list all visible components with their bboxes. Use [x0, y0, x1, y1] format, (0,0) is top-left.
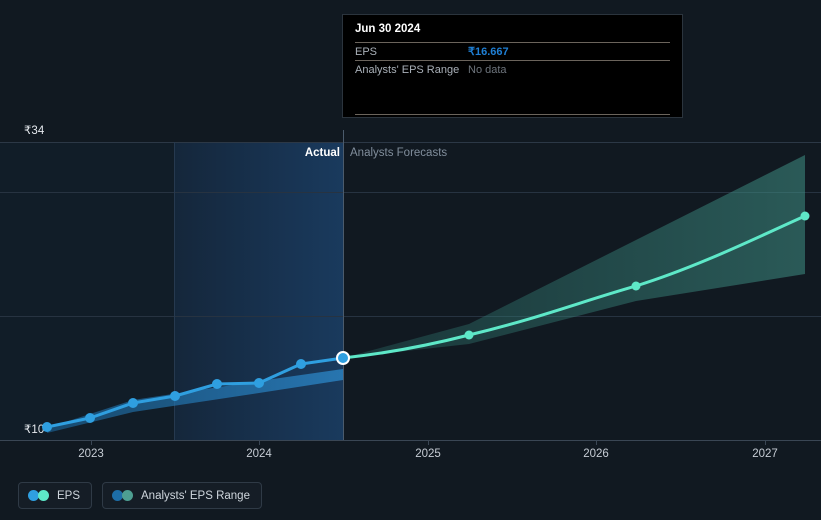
tooltip-value-eps: ₹16.667	[468, 45, 509, 58]
data-point-actual[interactable]	[170, 391, 180, 401]
x-axis-tick	[428, 440, 429, 445]
tooltip-key-eps: EPS	[355, 46, 468, 58]
y-axis-label-bottom: ₹10	[24, 422, 44, 436]
x-axis-label-2025: 2025	[415, 448, 441, 460]
eps-actual-line	[47, 358, 343, 427]
actual-range-band	[47, 369, 343, 433]
y-axis-label-top: ₹34	[24, 123, 44, 137]
x-axis-label-2026: 2026	[583, 448, 609, 460]
x-axis-label-2027: 2027	[752, 448, 778, 460]
data-point-forecast[interactable]	[801, 212, 810, 221]
x-axis-tick	[596, 440, 597, 445]
x-axis-tick	[765, 440, 766, 445]
gridline-top	[0, 142, 821, 143]
chart-tooltip: Jun 30 2024 EPS ₹16.667 Analysts' EPS Ra…	[342, 14, 683, 118]
tooltip-key-range: Analysts' EPS Range	[355, 64, 468, 76]
actual-forecast-divider	[343, 130, 344, 440]
gridline-baseline	[0, 440, 821, 441]
section-label-actual: Actual	[305, 147, 340, 159]
eps-forecast-line	[343, 216, 805, 358]
eps-forecast-chart: ₹34 ₹10 Actual Analysts Forecasts	[0, 0, 821, 520]
actual-period-highlight-band	[174, 142, 343, 440]
x-axis-tick	[259, 440, 260, 445]
x-axis-label-2024: 2024	[246, 448, 272, 460]
gridline-mid	[0, 316, 821, 317]
x-axis-label-2023: 2023	[78, 448, 104, 460]
selected-data-point[interactable]	[337, 352, 349, 364]
data-point-actual[interactable]	[128, 398, 138, 408]
chart-legend: EPS Analysts' EPS Range	[18, 482, 262, 509]
tooltip-bottom-rule	[355, 114, 670, 115]
tooltip-row-eps: EPS ₹16.667	[355, 42, 670, 60]
vertical-gridline-1	[174, 142, 175, 440]
tooltip-spacer	[355, 78, 670, 114]
tooltip-row-range: Analysts' EPS Range No data	[355, 60, 670, 78]
section-label-forecast: Analysts Forecasts	[350, 147, 447, 159]
data-point-actual[interactable]	[85, 413, 95, 423]
plot-background-left	[0, 142, 174, 440]
gridline-upper	[0, 192, 821, 193]
tooltip-title: Jun 30 2024	[355, 23, 670, 42]
data-point-forecast[interactable]	[632, 282, 641, 291]
forecast-range-band	[343, 155, 805, 358]
data-point-actual[interactable]	[212, 379, 222, 389]
legend-label-eps: EPS	[57, 490, 80, 502]
legend-swatch-icon	[112, 490, 133, 501]
x-axis-tick	[91, 440, 92, 445]
legend-swatch-icon	[28, 490, 49, 501]
tooltip-value-range: No data	[468, 64, 507, 76]
data-point-actual[interactable]	[254, 378, 264, 388]
legend-item-eps[interactable]: EPS	[18, 482, 92, 509]
data-point-forecast[interactable]	[465, 331, 474, 340]
data-point-actual[interactable]	[296, 359, 306, 369]
legend-item-analysts-range[interactable]: Analysts' EPS Range	[102, 482, 262, 509]
legend-label-analysts-range: Analysts' EPS Range	[141, 490, 250, 502]
